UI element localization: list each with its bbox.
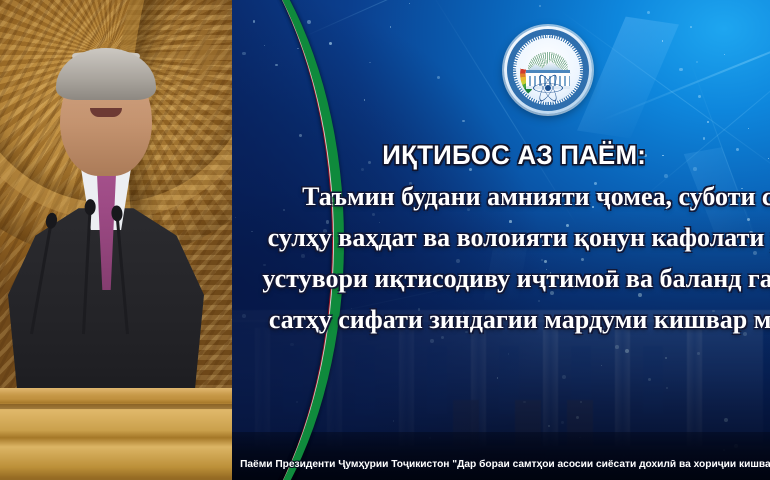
address-caption: Паёми Президенти Ҷумҳурии Тоҷикистон "Да… <box>240 457 762 471</box>
quote-line: устувори иқтисодиву иҷтимоӣ ва баланд га… <box>232 258 770 299</box>
presidential-address-banner: ИҚТИБОС АЗ ПАЁМ: Таъмин будани амнияти ҷ… <box>0 0 770 480</box>
quote-title: ИҚТИБОС АЗ ПАЁМ: <box>254 138 770 172</box>
tajikistan-state-emblem-icon <box>504 26 592 114</box>
atom-icon <box>533 77 563 99</box>
quote-line: сулҳу ваҳдат ва волоияти қонун кафолати … <box>232 217 770 258</box>
quote-line: Таъмин будани амнияти ҷомеа, суботи сиё <box>232 176 770 217</box>
quote-block: ИҚТИБОС АЗ ПАЁМ: Таъмин будани амнияти ҷ… <box>232 138 770 340</box>
quote-line: сатҳу сифати зиндагии мардуми кишвар меб <box>232 299 770 340</box>
